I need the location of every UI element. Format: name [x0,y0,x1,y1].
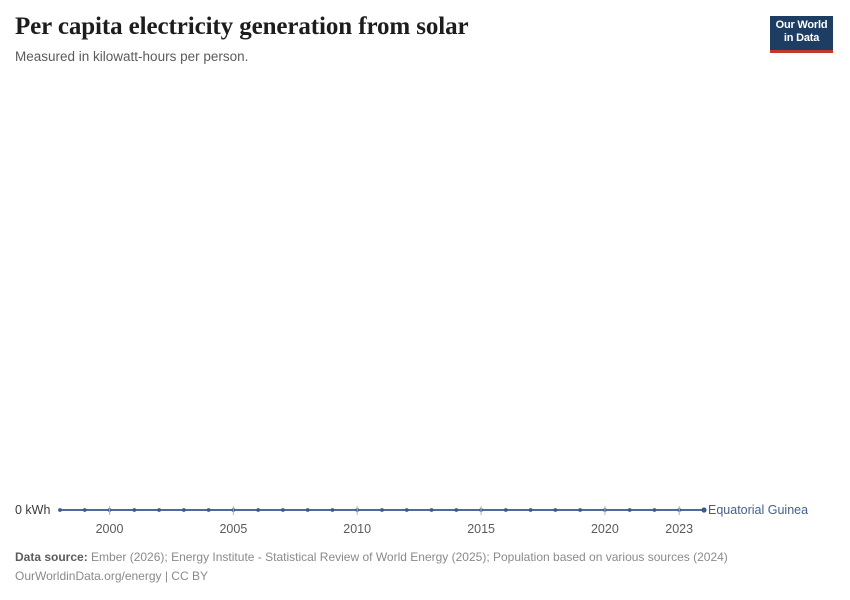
series-end-marker[interactable] [701,507,706,512]
series-point-marker[interactable] [331,508,335,512]
series-point-marker[interactable] [256,508,260,512]
chart-footer: Data source: Ember (2026); Energy Instit… [15,548,835,586]
chart-header: Per capita electricity generation from s… [15,12,755,65]
license-line[interactable]: OurWorldinData.org/energy | CC BY [15,567,835,586]
data-source-label: Data source: [15,550,88,564]
series-equatorial-guinea[interactable] [58,507,707,512]
series-point-marker[interactable] [83,508,87,512]
series-end-label[interactable]: Equatorial Guinea [708,503,808,517]
chart-plot-area[interactable]: 0 kWh Equatorial Guinea 2000200520102015… [0,78,850,538]
chart-subtitle: Measured in kilowatt-hours per person. [15,48,755,65]
series-point-marker[interactable] [628,508,632,512]
series-point-marker[interactable] [132,508,136,512]
series-point-marker[interactable] [578,508,582,512]
series-point-marker[interactable] [553,508,557,512]
page-title: Per capita electricity generation from s… [15,12,755,42]
x-axis-tick-label: 2000 [96,522,124,536]
x-axis-tick-label: 2023 [665,522,693,536]
x-axis-tick-label: 2010 [343,522,371,536]
series-point-marker[interactable] [454,508,458,512]
owid-logo[interactable]: Our World in Data [770,16,833,53]
logo-rule [770,50,833,53]
series-point-marker[interactable] [405,508,409,512]
series-point-marker[interactable] [281,508,285,512]
y-axis-zero-label: 0 kWh [15,503,50,517]
series-point-marker[interactable] [306,508,310,512]
series-point-marker[interactable] [529,508,533,512]
x-axis-tick-label: 2015 [467,522,495,536]
series-point-marker[interactable] [653,508,657,512]
data-source-value: Ember (2026); Energy Institute - Statist… [88,550,728,564]
series-point-marker[interactable] [157,508,161,512]
chart-svg [0,78,850,538]
series-point-marker[interactable] [207,508,211,512]
x-axis-tick-label: 2020 [591,522,619,536]
logo-line-2: in Data [770,32,833,45]
series-point-marker[interactable] [58,508,62,512]
x-axis-tick-label: 2005 [219,522,247,536]
series-point-marker[interactable] [504,508,508,512]
series-point-marker[interactable] [182,508,186,512]
series-point-marker[interactable] [430,508,434,512]
logo-line-1: Our World [770,19,833,32]
series-point-marker[interactable] [380,508,384,512]
data-source-line: Data source: Ember (2026); Energy Instit… [15,548,835,567]
